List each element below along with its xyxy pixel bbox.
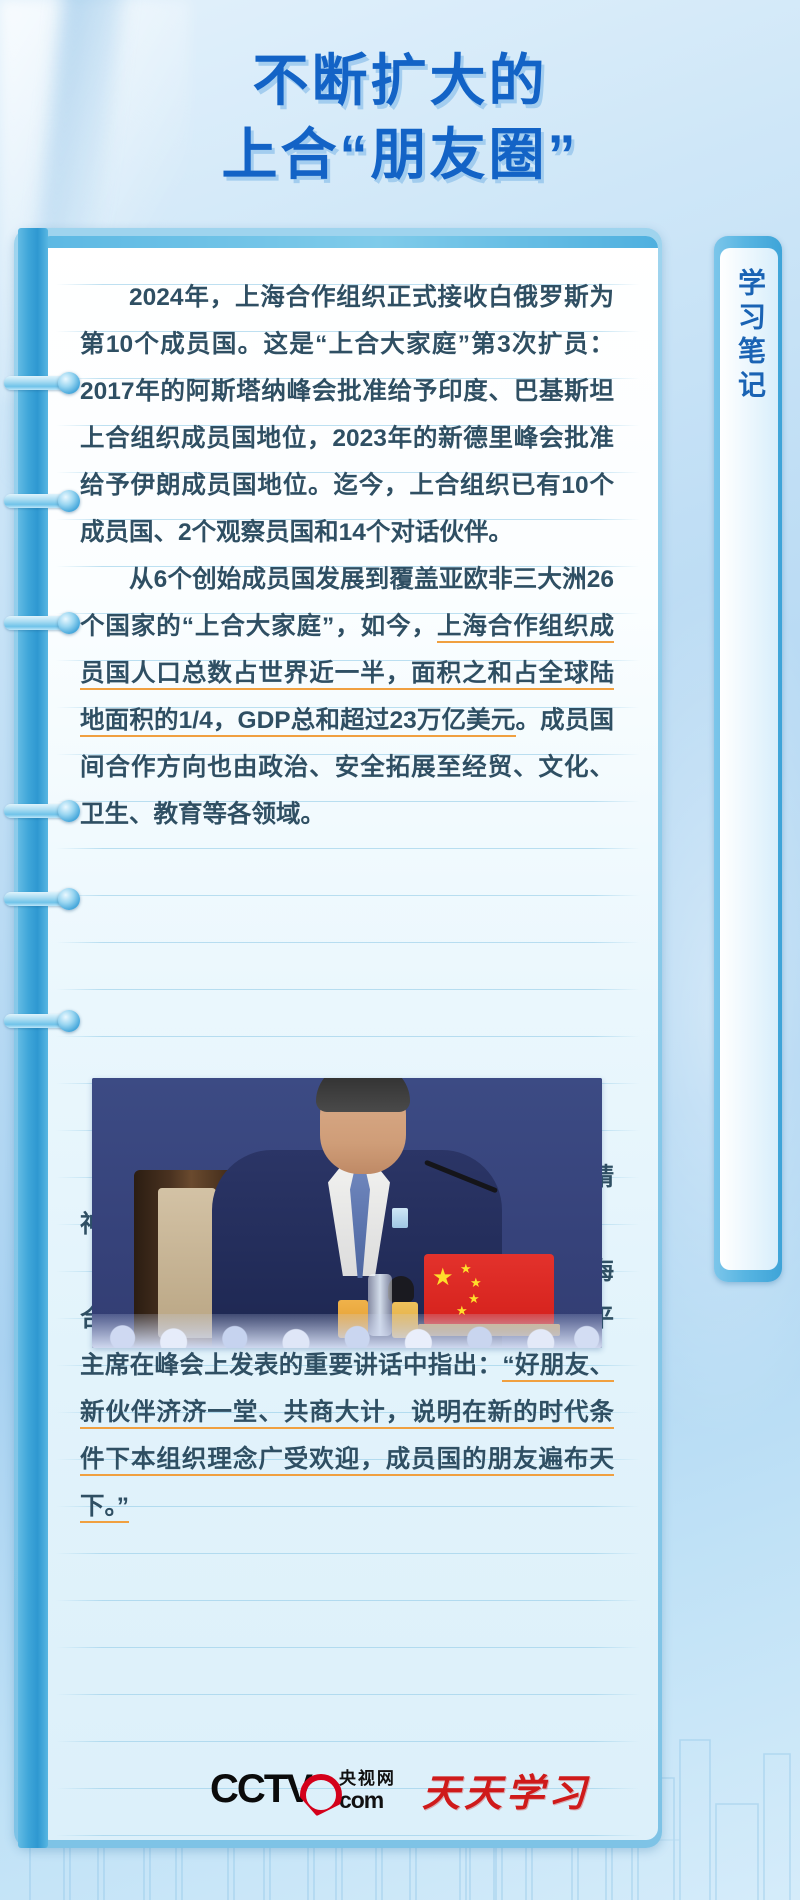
photo-hair xyxy=(316,1078,410,1112)
article-photo: ★ ★ ★ ★ ★ xyxy=(92,1078,602,1348)
cctv-domain-suffix: com xyxy=(339,1789,396,1812)
brand-logo-tiantianxuexi: 天天学习 xyxy=(422,1762,590,1817)
binder-ring xyxy=(4,888,80,910)
ring-knob xyxy=(58,888,80,910)
rule-line xyxy=(56,1553,640,1554)
rule-line xyxy=(56,1835,640,1836)
side-tab-label: 学习笔记 xyxy=(724,268,774,404)
flag-star-1: ★ xyxy=(460,1262,472,1275)
flag-star-3: ★ xyxy=(468,1292,480,1305)
title-line-2: 上合“朋友圈” xyxy=(0,118,800,192)
binder-ring xyxy=(4,372,80,394)
flag-star-2: ★ xyxy=(470,1276,482,1289)
ring-knob xyxy=(58,1010,80,1032)
cctv-swoosh-icon xyxy=(310,1772,336,1812)
ring-knob xyxy=(58,372,80,394)
ring-knob xyxy=(58,800,80,822)
page-title: 不断扩大的 上合“朋友圈” xyxy=(0,44,800,192)
ring-knob xyxy=(58,490,80,512)
rule-line xyxy=(56,1741,640,1742)
binder-ring xyxy=(4,800,80,822)
notebook-spine xyxy=(18,228,48,1848)
flag-star-large: ★ xyxy=(432,1266,454,1290)
photo-flower-arrangement xyxy=(92,1314,602,1348)
binder-ring xyxy=(4,612,80,634)
paragraph-p1: 2024年，上海合作组织正式接收白俄罗斯为第10个成员国。这是“上合大家庭”第3… xyxy=(80,274,614,556)
rule-line xyxy=(56,1694,640,1695)
cctv-wordmark: CCTV xyxy=(210,1767,311,1812)
ring-knob xyxy=(58,612,80,634)
cctv-logo-text: 央视网 com xyxy=(339,1770,396,1812)
binder-ring xyxy=(4,490,80,512)
cctv-chinese-name: 央视网 xyxy=(339,1770,396,1787)
title-line-1: 不断扩大的 xyxy=(0,44,800,118)
body-text: 2024年，上海合作组织正式接收白俄罗斯为第10个成员国。这是“上合大家庭”第3… xyxy=(80,284,614,546)
cctv-logo: CCTV 央视网 com xyxy=(210,1767,396,1812)
rule-line xyxy=(56,1600,640,1601)
footer-logos: CCTV 央视网 com 天天学习 xyxy=(0,1762,800,1817)
binder-ring xyxy=(4,1010,80,1032)
paragraph-p2: 从6个创始成员国发展到覆盖亚欧非三大洲26个国家的“上合大家庭”，如今，上海合作… xyxy=(80,556,614,838)
rule-line xyxy=(56,1647,640,1648)
photo-lapel-badge xyxy=(392,1208,408,1228)
